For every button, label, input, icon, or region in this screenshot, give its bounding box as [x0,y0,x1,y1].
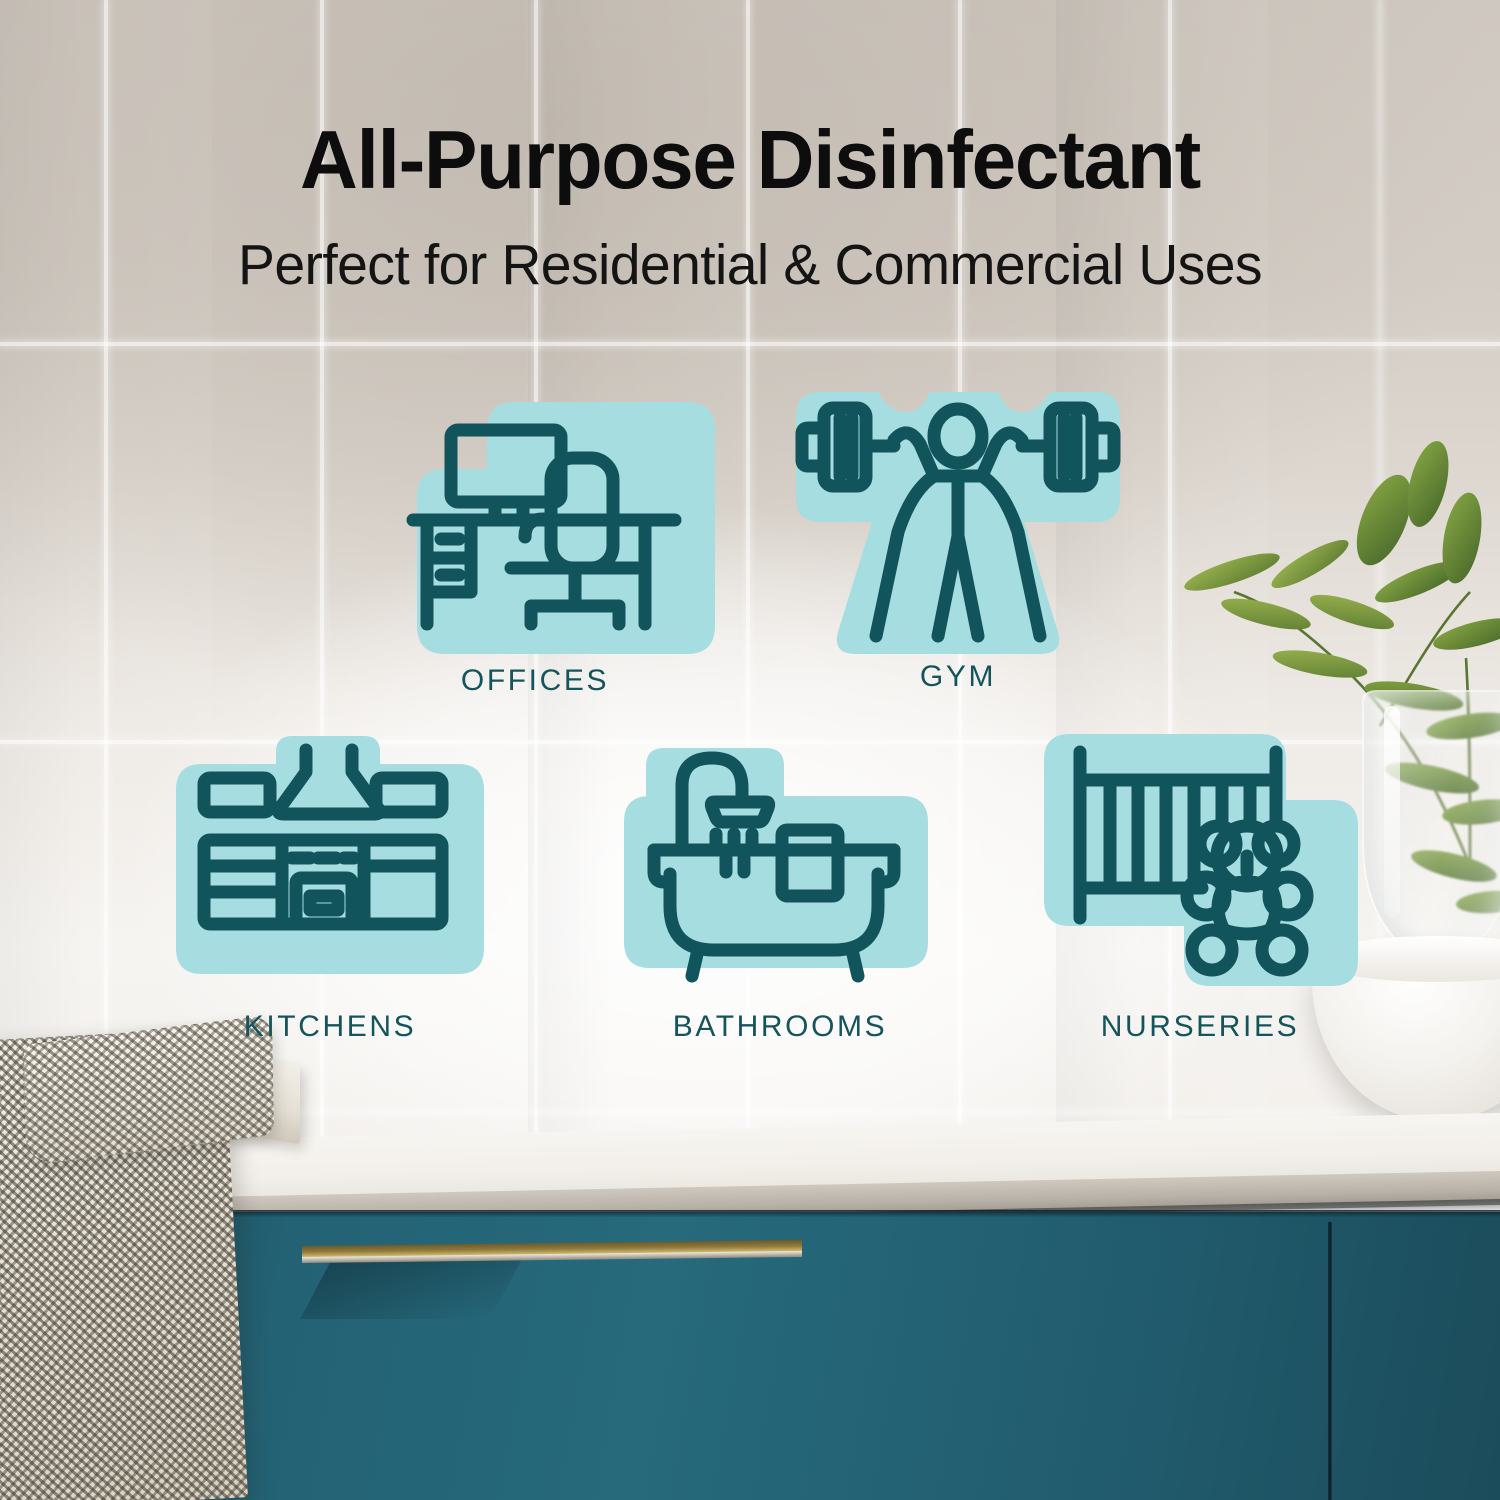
feature-kitchens[interactable]: KITCHENS [170,728,490,1058]
handle-drop-shadow [300,1259,522,1319]
feature-label-gym: GYM [778,660,1138,694]
kitchen-counter-range-hood-icon [170,728,490,998]
desk-computer-chair-icon [345,392,725,662]
feature-label-kitchens: KITCHENS [170,1010,490,1044]
crib-teddy-bear-icon [1040,728,1360,998]
feature-label-bathrooms: BATHROOMS [620,1010,940,1044]
cabinet-top-shadow-line [80,1210,1500,1217]
page-subtitle: Perfect for Residential & Commercial Use… [23,232,1478,298]
weightlifter-barbell-icon [778,378,1138,658]
grout-line-horizontal [0,342,1500,346]
feature-nurseries[interactable]: NURSERIES [1040,728,1360,1058]
cabinet-panel-seam [1328,1222,1333,1500]
feature-label-offices: OFFICES [345,664,725,698]
clawfoot-bathtub-shower-icon [620,738,940,998]
product-lifestyle-scene: All-Purpose Disinfectant Perfect for Res… [0,0,1500,1500]
feature-label-nurseries: NURSERIES [1040,1010,1360,1044]
feature-gym[interactable]: GYM [778,378,1138,718]
vase-highlight [1384,706,1400,918]
page-title: All-Purpose Disinfectant [26,112,1474,208]
feature-offices[interactable]: OFFICES [345,392,725,722]
feature-bathrooms[interactable]: BATHROOMS [620,738,940,1058]
glass-vase [1362,690,1500,960]
